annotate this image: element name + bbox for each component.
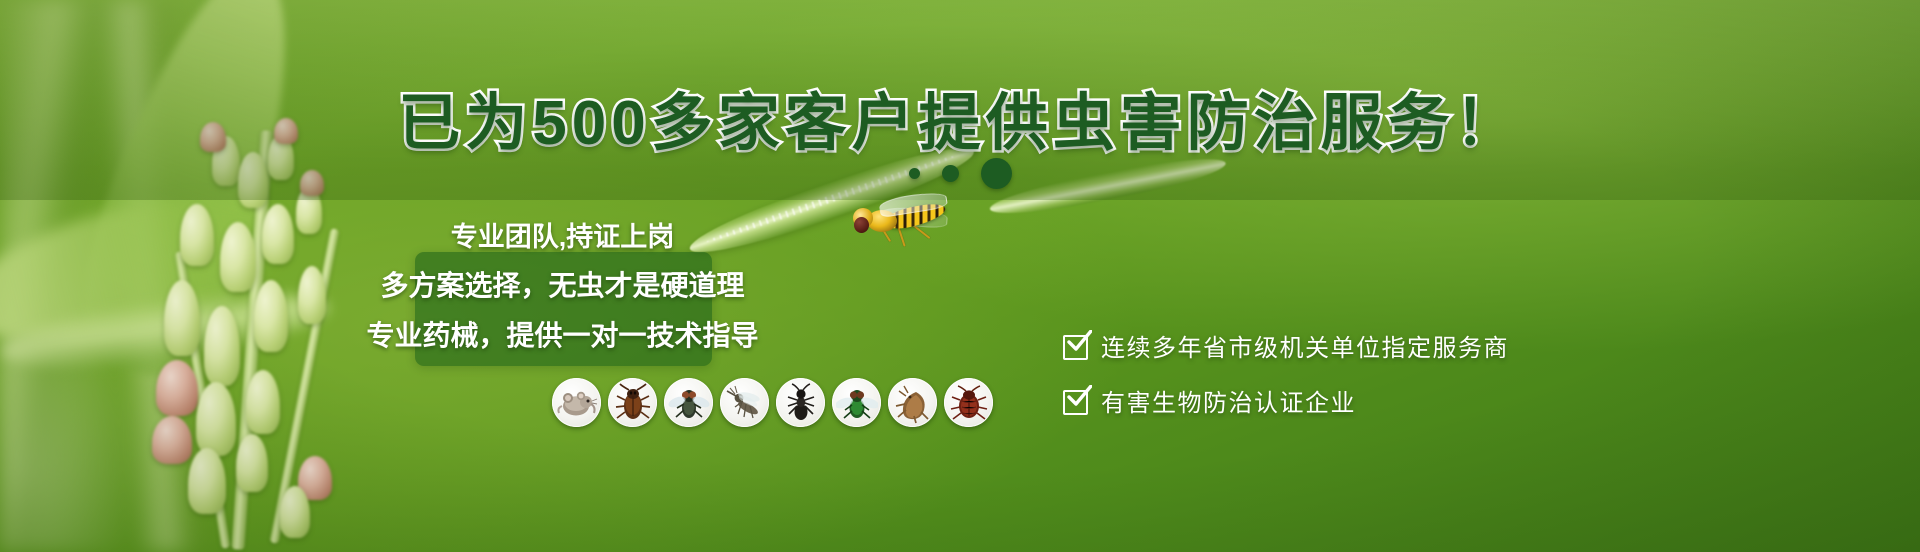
fly-icon[interactable]	[664, 378, 713, 427]
mosquito-icon[interactable]	[720, 378, 769, 427]
checkbox-check-icon	[1063, 388, 1088, 413]
panel-line-3: 专业药械，提供一对一技术指导	[366, 314, 758, 354]
certification-bullets: 连续多年省市级机关单位指定服务商 有害生物防治认证企业	[1063, 328, 1509, 418]
feature-panel-text: 专业团队,持证上岗 多方案选择，无虫才是硬道理 专业药械，提供一对一技术指导	[330, 215, 795, 354]
rat-icon[interactable]	[552, 378, 601, 427]
promo-banner: 已为500多家客户提供虫害防治服务！ 专业团队,持证上岗 多方案选择，无虫才是硬…	[0, 0, 1920, 552]
pest-icon-row	[552, 378, 993, 427]
flea-icon[interactable]	[888, 378, 937, 427]
panel-line-1: 专业团队,持证上岗	[451, 215, 675, 254]
dot-medium-icon	[942, 165, 959, 182]
hoverfly-icon	[845, 198, 955, 248]
blowfly-icon[interactable]	[832, 378, 881, 427]
cockroach-icon[interactable]	[608, 378, 657, 427]
dot-large-icon	[981, 158, 1012, 189]
banner-headline: 已为500多家客户提供虫害防治服务！	[0, 72, 1920, 162]
bullet-item: 连续多年省市级机关单位指定服务商	[1063, 328, 1509, 363]
bedbug-icon[interactable]	[944, 378, 993, 427]
panel-line-2: 多方案选择，无虫才是硬道理	[380, 264, 744, 304]
ant-icon[interactable]	[776, 378, 825, 427]
headline-dot-ornaments	[0, 158, 1920, 189]
checkbox-check-icon	[1063, 333, 1088, 358]
bullet-label: 连续多年省市级机关单位指定服务商	[1101, 328, 1509, 363]
bullet-label: 有害生物防治认证企业	[1101, 383, 1356, 418]
dot-small-icon	[909, 168, 920, 179]
bullet-item: 有害生物防治认证企业	[1063, 383, 1509, 418]
